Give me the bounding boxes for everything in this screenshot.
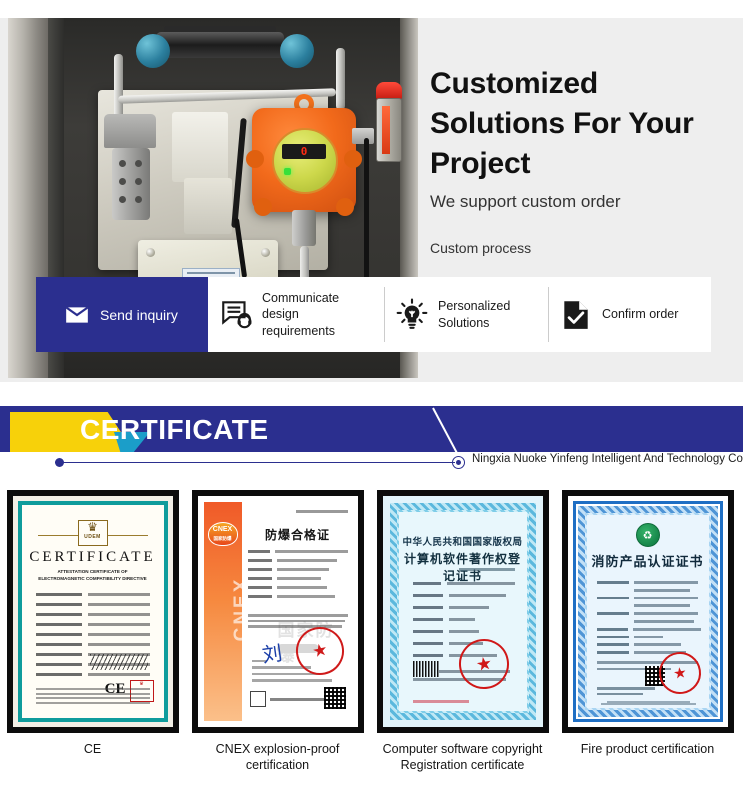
certificate-paragraph: [248, 614, 348, 631]
certificate-subtitle: ATTESTATION CERTIFICATE OF ELECTROMAGNET…: [36, 569, 150, 583]
envelope-icon: [64, 302, 90, 328]
lightbulb-icon: [395, 298, 429, 332]
certificate-frame[interactable]: 中华人民共和国国家版权局 计算机软件著作权登记证书: [377, 490, 549, 733]
alarm-beacon-lens: [382, 106, 390, 154]
certificate-field: [36, 593, 150, 596]
certificate-field: [597, 604, 701, 607]
certificate-field: [597, 612, 701, 615]
certificate-caption: Fire product certification: [562, 741, 734, 757]
certificate-field: [597, 620, 701, 623]
air-filter-bowl: [112, 148, 150, 220]
certificate-item-software[interactable]: 中华人民共和国国家版权局 计算机软件著作权登记证书: [370, 490, 555, 803]
certificate-item-cnex[interactable]: CNEX CNEX国家防爆 防爆合格证 国家防爆: [185, 490, 370, 803]
banner-ring-marker: [452, 456, 465, 469]
certificate-caption: CE: [7, 741, 179, 757]
detector-lug: [344, 150, 362, 168]
screw: [261, 248, 270, 257]
send-inquiry-button[interactable]: Send inquiry: [36, 277, 208, 352]
detector-display: 0: [282, 144, 326, 159]
certificate-field: [248, 586, 348, 589]
chat-support-icon: [219, 298, 253, 332]
certificate-field: [36, 603, 150, 606]
banner-diagonal-line: [432, 408, 460, 452]
certificate-frame[interactable]: CNEX CNEX国家防爆 防爆合格证 国家防爆: [192, 490, 364, 733]
certificate-number: [459, 568, 515, 571]
certificate-banner: CERTIFICATE: [0, 406, 743, 452]
detector-faceplate: [272, 128, 338, 194]
banner-title: CERTIFICATE: [80, 414, 269, 446]
certificate-number: [296, 510, 348, 513]
certificate-field: [36, 643, 150, 646]
pipe-valve-left: [136, 34, 170, 68]
hero-subtitle: We support custom order: [430, 192, 730, 212]
banner-rule: [55, 462, 455, 463]
wire: [364, 138, 369, 288]
certificate-title: 防爆合格证: [248, 526, 348, 543]
certificate-title: CERTIFICATE: [24, 549, 162, 566]
cnex-badge-sub: 国家防爆: [209, 536, 237, 542]
process-step-confirm[interactable]: Confirm order: [548, 277, 711, 352]
control-module: [172, 112, 228, 182]
certificate-field: [597, 636, 701, 639]
certificate-field: [248, 577, 348, 580]
certificate-caption: CNEX explosion-proof certification: [192, 741, 364, 773]
qr-code: [324, 687, 346, 709]
certificate-field: [597, 589, 701, 592]
certificate-fields: [248, 550, 348, 604]
udem-logo-text: UDEM: [79, 534, 107, 540]
certificate-image-fire: ♻ 消防产品认证证书: [568, 496, 728, 727]
certificate-title-line1: 中华人民共和国国家版权局: [399, 534, 527, 548]
detector-lug: [336, 198, 354, 216]
detector-reading: 0: [301, 146, 308, 157]
certificate-field: [248, 550, 348, 553]
certificate-title: 消防产品认证证书: [587, 551, 709, 570]
certificate-field: [597, 597, 701, 600]
fire-certification-logo-icon: ♻: [636, 523, 660, 547]
hero-caption: Custom process: [430, 240, 730, 256]
certificate-image-cnex: CNEX CNEX国家防爆 防爆合格证 国家防爆: [198, 496, 358, 727]
pipe-vertical-left: [114, 54, 123, 118]
banner-company-row: Ningxia Nuoke Yinfeng Intelligent And Te…: [0, 452, 743, 474]
control-module-lower: [184, 178, 232, 234]
certificate-field: [36, 623, 150, 626]
detector-status-led: [284, 168, 291, 175]
process-step-label: Communicate design requirements: [262, 290, 373, 340]
certificate-item-fire[interactable]: ♻ 消防产品认证证书: [555, 490, 740, 803]
certificate-body: 防爆合格证 国家防爆: [248, 506, 348, 719]
certificate-field: [413, 630, 515, 633]
certificate-notes: [597, 701, 701, 705]
detector-connector: [352, 128, 374, 144]
certificate-field: [36, 613, 150, 616]
banner-dot: [55, 458, 64, 467]
certificate-field: [248, 568, 348, 571]
detector-lug: [246, 150, 264, 168]
certificate-field: [597, 643, 701, 646]
certificate-field: [36, 633, 150, 636]
certificate-item-ce[interactable]: ♛ UDEM CERTIFICATE ATTESTATION CERTIFICA…: [0, 490, 185, 803]
certificate-field: [413, 594, 515, 597]
certificate-field: [597, 628, 701, 631]
certificate-field: [597, 581, 701, 584]
filter-vent: [119, 160, 126, 167]
certificate-title-line2: 计算机软件著作权登记证书: [399, 550, 527, 584]
page-title: Customized Solutions For Your Project: [430, 64, 730, 184]
filter-vent: [135, 160, 142, 167]
certificate-field: [413, 618, 515, 621]
certificate-image-software: 中华人民共和国国家版权局 计算机软件著作权登记证书: [383, 496, 543, 727]
certificate-inner: ♛ UDEM CERTIFICATE ATTESTATION CERTIFICA…: [24, 507, 162, 716]
filter-vent: [135, 178, 142, 185]
company-name: Ningxia Nuoke Yinfeng Intelligent And Te…: [472, 453, 743, 465]
certificate-image-ce: ♛ UDEM CERTIFICATE ATTESTATION CERTIFICA…: [13, 496, 173, 727]
certificate-field: [413, 582, 515, 585]
pipe-vertical-right: [336, 48, 345, 110]
process-step-label: Personalized Solutions: [438, 298, 537, 331]
filter-vent: [135, 196, 142, 203]
filter-vent: [119, 178, 126, 185]
certificate-inner: ♻ 消防产品认证证书: [587, 515, 709, 708]
certificate-gallery: ♛ UDEM CERTIFICATE ATTESTATION CERTIFICA…: [0, 490, 743, 803]
filter-vent: [119, 196, 126, 203]
certificate-fields: [597, 581, 701, 659]
certificate-field: [36, 673, 150, 676]
detector-lug: [254, 198, 272, 216]
detector-stem: [292, 210, 316, 246]
certificate-footer: [413, 700, 469, 703]
air-filter-head: [104, 114, 156, 148]
hero-section: 0 Customized Solutions For Your Project …: [0, 0, 743, 388]
certificate-field: [248, 595, 348, 598]
certificate-field: [413, 606, 515, 609]
process-steps: Communicate design requirements Personal…: [208, 277, 711, 352]
footer-logo-icon: [250, 691, 266, 707]
signature: 刘: [260, 637, 284, 669]
process-step-label: Confirm order: [602, 306, 678, 323]
pipe-valve-right: [280, 34, 314, 68]
barcode: [413, 661, 439, 677]
cnex-badge-icon: CNEX国家防爆: [208, 522, 238, 546]
certificate-fineprint: [36, 688, 150, 706]
screw: [146, 248, 155, 257]
process-step-personalized[interactable]: Personalized Solutions: [384, 277, 548, 352]
certificate-footer: [597, 687, 655, 698]
process-step-communicate[interactable]: Communicate design requirements: [208, 277, 384, 352]
certificate-inner: 中华人民共和国国家版权局 计算机软件著作权登记证书: [399, 512, 527, 711]
pipe-manifold: [156, 32, 284, 58]
certificate-frame[interactable]: ♻ 消防产品认证证书: [562, 490, 734, 733]
send-inquiry-label: Send inquiry: [100, 307, 178, 323]
certificate-field: [248, 559, 348, 562]
udem-logo-icon: ♛ UDEM: [78, 520, 108, 546]
document-check-icon: [559, 298, 593, 332]
certificate-footer: [250, 691, 324, 707]
certificate-frame[interactable]: ♛ UDEM CERTIFICATE ATTESTATION CERTIFICA…: [7, 490, 179, 733]
signature: [90, 654, 148, 670]
certificate-caption: Computer software copyright Registration…: [377, 741, 549, 773]
